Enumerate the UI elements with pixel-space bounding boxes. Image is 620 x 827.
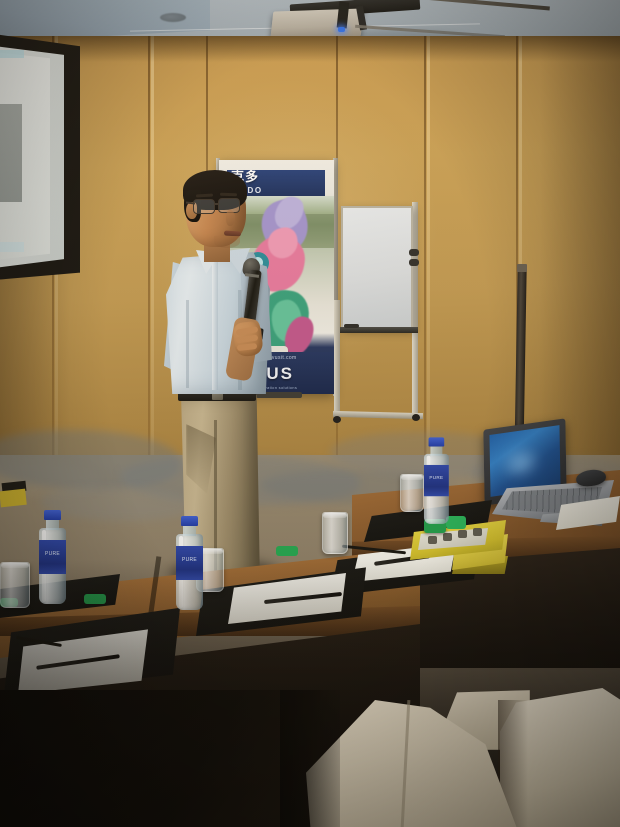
water-bottle[interactable]: PURE — [423, 437, 447, 514]
foreground-gap-shadow — [280, 690, 340, 827]
bottle-neck — [183, 526, 196, 536]
bottle-brand-text: PURE — [424, 474, 449, 482]
speaker-nose — [226, 210, 235, 226]
glass-rim — [401, 475, 423, 480]
power-socket[interactable] — [443, 533, 452, 541]
bottle-brand-text: PURE — [39, 550, 66, 559]
speaker-shirt-placket — [212, 258, 218, 390]
bottle-cap[interactable] — [44, 510, 61, 520]
speaker-eyebrow-right — [220, 193, 237, 197]
conference-room-photo: 克多 RADO www.novusit.com VUS innovation s… — [0, 0, 620, 827]
whiteboard-wheel-left — [333, 416, 341, 423]
whiteboard-wheel-right — [412, 414, 420, 421]
small-yellow-object — [0, 489, 27, 508]
ceiling-vent-icon — [160, 13, 186, 22]
whiteboard-marker — [344, 324, 359, 328]
speaker-chin — [214, 236, 240, 248]
bottle-cap[interactable] — [181, 516, 198, 526]
bottle-cap[interactable] — [429, 437, 445, 446]
speaker-shirt-fold — [186, 300, 189, 388]
power-socket[interactable] — [458, 530, 467, 538]
green-plug[interactable] — [276, 546, 298, 556]
wall-top-shadow — [0, 36, 620, 62]
bottle-neck — [46, 520, 59, 530]
whiteboard-post-left — [334, 300, 340, 418]
foreground-shadow-left — [0, 690, 320, 827]
green-plug[interactable] — [446, 516, 466, 529]
eyeglasses-bridge — [214, 203, 219, 205]
power-socket[interactable] — [473, 528, 482, 536]
bottle-neck — [430, 447, 442, 456]
wall-dark-strip-cap — [517, 264, 527, 272]
eyeglasses-lens-left — [193, 199, 215, 214]
wall-right-shading — [540, 36, 620, 461]
projector-body — [270, 8, 363, 39]
slide-accent-top — [0, 50, 24, 58]
slide-image-block — [0, 104, 22, 202]
slide-accent-bottom — [0, 242, 24, 252]
power-socket[interactable] — [428, 536, 437, 544]
drinking-glass[interactable] — [400, 474, 424, 512]
drinking-glass[interactable] — [322, 512, 348, 554]
banner-subtitle: innovation solutions — [256, 384, 326, 391]
whiteboard-knob — [409, 249, 419, 256]
whiteboard-knob-lower — [409, 259, 419, 266]
whiteboard-surface — [341, 206, 413, 330]
projector-led-icon — [338, 27, 345, 32]
glass-rim — [323, 513, 347, 518]
